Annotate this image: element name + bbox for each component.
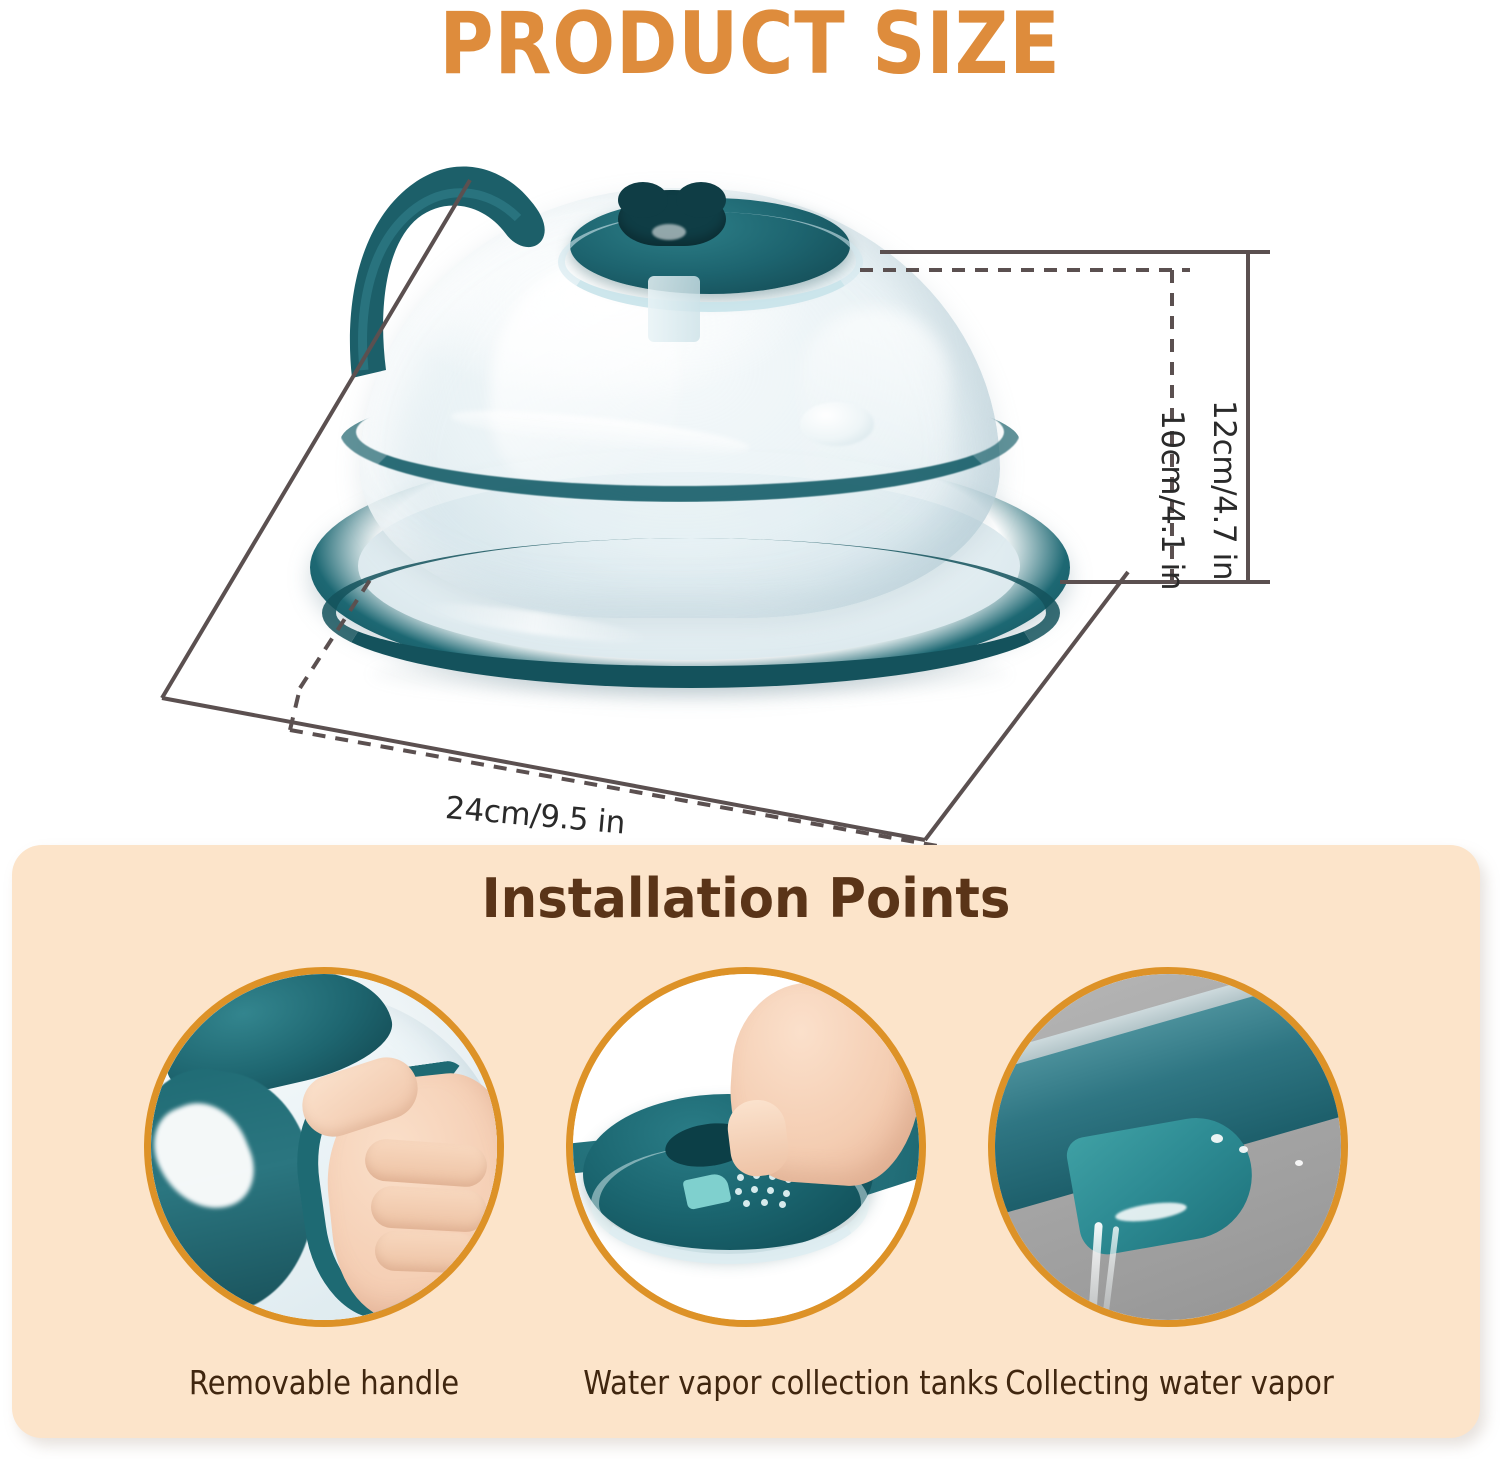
photo3-water-bead-3	[1295, 1160, 1303, 1166]
installation-item-collection-tanks	[561, 967, 931, 1337]
page-title: PRODUCT SIZE	[105, 0, 1395, 94]
dim-floor-inner-left	[300, 580, 370, 688]
product-size-section: 12cm/4.7 in 10cm/4.1 in 24cm/9.5 in 29.5…	[0, 110, 1500, 840]
installation-photo-row	[12, 967, 1480, 1337]
photo3-water-bead-2	[1239, 1146, 1248, 1153]
caption-removable-handle: Removable handle	[161, 1363, 487, 1402]
dimension-overlay	[0, 110, 1500, 840]
photo1-finger-3	[374, 1230, 479, 1274]
hand-lifting-lid-photo	[566, 967, 926, 1327]
installation-caption-row: Removable handle Water vapor collection …	[12, 1363, 1480, 1402]
dimension-label-height-inner: 10cm/4.1 in	[1154, 410, 1190, 590]
caption-collecting-vapor: Collecting water vapor	[1005, 1363, 1331, 1402]
installation-points-panel: Installation Points	[12, 845, 1480, 1438]
installation-item-collecting-vapor	[983, 967, 1353, 1337]
dimension-label-height-outer: 12cm/4.7 in	[1206, 400, 1242, 580]
photo1-finger-1	[364, 1138, 489, 1188]
photo1-finger-2	[370, 1185, 488, 1233]
hand-holding-handle-photo	[144, 967, 504, 1327]
dim-floor-left-edge	[162, 180, 470, 698]
installation-points-heading: Installation Points	[49, 867, 1444, 930]
water-dripping-photo	[988, 967, 1348, 1327]
dim-floor-right-edge	[925, 572, 1128, 840]
installation-item-removable-handle	[139, 967, 509, 1337]
caption-collection-tanks: Water vapor collection tanks	[583, 1363, 909, 1402]
dim-line-width-inner	[290, 730, 960, 850]
photo3-water-bead-1	[1211, 1134, 1223, 1143]
